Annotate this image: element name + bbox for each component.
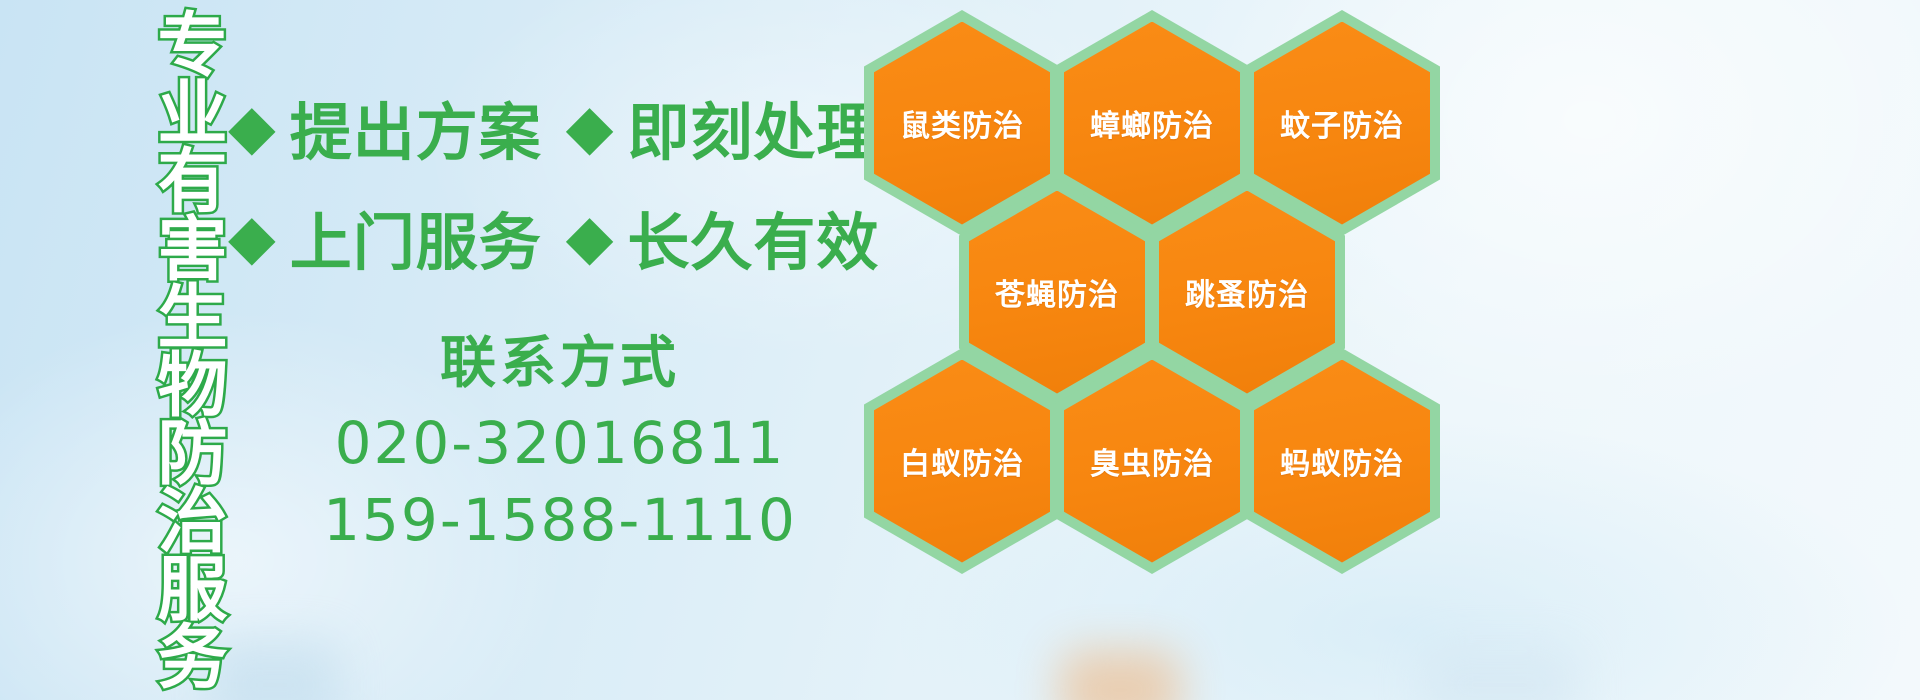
service-label: 蚊子防治 <box>1280 101 1404 145</box>
feature-row: ◆ 提出方案 ◆ 即刻处理 <box>228 72 868 182</box>
vertical-headline: 专业有害生物防治服务 <box>110 8 222 688</box>
feature-row: ◆ 上门服务 ◆ 长久有效 <box>228 182 868 292</box>
service-label: 跳蚤防治 <box>1185 270 1309 314</box>
service-label: 苍蝇防治 <box>995 270 1119 314</box>
promo-banner: 专业有害生物防治服务 ◆ 提出方案 ◆ 即刻处理 ◆ 上门服务 ◆ 长久有效 联… <box>0 0 1920 700</box>
diamond-bullet-icon: ◆ <box>566 96 614 158</box>
feature-item-propose-plan: ◆ 提出方案 <box>228 82 542 172</box>
service-label: 蚂蚁防治 <box>1280 439 1404 483</box>
hex-inner: 蚂蚁防治 <box>1254 360 1430 563</box>
contact-title: 联系方式 <box>300 318 820 399</box>
hex-inner: 臭虫防治 <box>1064 360 1240 563</box>
hex-inner: 跳蚤防治 <box>1159 191 1335 394</box>
feature-label: 即刻处理 <box>627 82 879 172</box>
feature-label: 提出方案 <box>290 82 542 172</box>
service-label: 蟑螂防治 <box>1090 101 1214 145</box>
hex-inner: 白蚁防治 <box>874 360 1050 563</box>
diamond-bullet-icon: ◆ <box>566 206 614 268</box>
service-hexagon-grid: 鼠类防治 蟑螂防治 蚊子防治 苍蝇防治 跳蚤防治 白蚁防治 <box>862 4 1442 544</box>
hex-inner: 苍蝇防治 <box>969 191 1145 394</box>
feature-item-on-site-service: ◆ 上门服务 <box>228 192 542 282</box>
service-label: 臭虫防治 <box>1090 439 1214 483</box>
feature-label: 长久有效 <box>627 192 879 282</box>
diamond-bullet-icon: ◆ <box>228 206 276 268</box>
feature-label: 上门服务 <box>290 192 542 282</box>
hex-inner: 蟑螂防治 <box>1064 22 1240 225</box>
blurred-foreground-shape <box>210 640 340 700</box>
blurred-foreground-shape <box>1060 650 1180 700</box>
service-label: 白蚁防治 <box>900 439 1024 483</box>
phone-number-landline[interactable]: 020-32016811 <box>300 405 820 482</box>
feature-list: ◆ 提出方案 ◆ 即刻处理 ◆ 上门服务 ◆ 长久有效 <box>228 72 868 292</box>
blurred-foreground-shape <box>1420 645 1580 700</box>
contact-block: 联系方式 020-32016811 159-1588-1110 <box>300 318 820 559</box>
service-label: 鼠类防治 <box>900 101 1024 145</box>
hex-inner: 鼠类防治 <box>874 22 1050 225</box>
feature-item-long-lasting: ◆ 长久有效 <box>566 192 880 282</box>
hex-inner: 蚊子防治 <box>1254 22 1430 225</box>
diamond-bullet-icon: ◆ <box>228 96 276 158</box>
feature-item-immediate-action: ◆ 即刻处理 <box>566 82 880 172</box>
phone-number-mobile[interactable]: 159-1588-1110 <box>300 482 820 559</box>
